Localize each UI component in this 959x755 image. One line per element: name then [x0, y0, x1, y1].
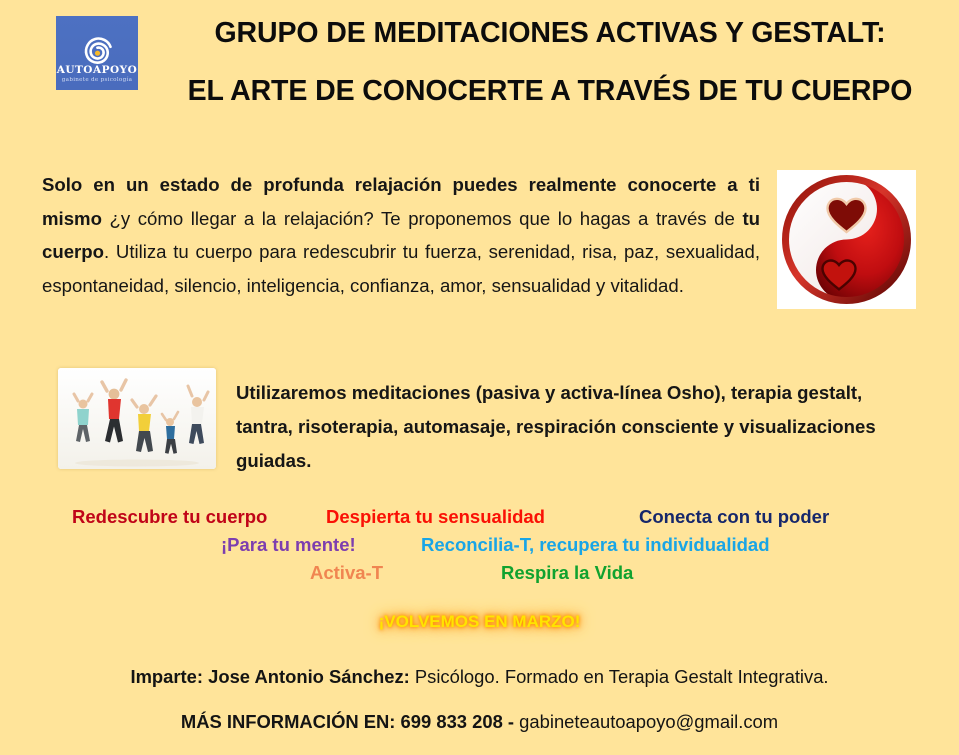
slogan-respira-la-vida: Respira la Vida [501, 559, 633, 587]
footer-instructor: Imparte: Jose Antonio Sánchez: Psicólogo… [0, 663, 959, 691]
methods-paragraph: Utilizaremos meditaciones (pasiva y acti… [236, 376, 904, 478]
slogan-para-tu-mente: ¡Para tu mente! [221, 531, 356, 559]
slogan-despierta-tu-sensualidad: Despierta tu sensualidad [326, 503, 545, 531]
slogan-activa-t: Activa-T [310, 559, 383, 587]
footer-instructor-rest: Psicólogo. Formado en Terapia Gestalt In… [410, 666, 829, 687]
jumping-people-photo [58, 368, 216, 469]
highlight-text: ¡VOLVEMOS EN MARZO! [379, 612, 581, 631]
slogans-group: Redescubre tu cuerpo Despierta tu sensua… [0, 503, 959, 587]
autoapoyo-logo: AUTOAPOYO gabinete de psicología [56, 16, 138, 90]
title-line-1: GRUPO DE MEDITACIONES ACTIVAS Y GESTALT: [150, 8, 950, 58]
photo-illustration [58, 368, 216, 469]
footer-contact: MÁS INFORMACIÓN EN: 699 833 208 - gabine… [0, 708, 959, 736]
slogan-redescubre-tu-cuerpo: Redescubre tu cuerpo [72, 503, 267, 531]
highlight-banner: ¡VOLVEMOS EN MARZO! [0, 612, 959, 632]
title-line-2: EL ARTE DE CONOCERTE A TRAVÉS DE TU CUER… [150, 66, 950, 116]
slogan-reconcilia-t: Reconcilia-T, recupera tu individualidad [421, 531, 770, 559]
logo-wordmark: AUTOAPOYO [56, 65, 138, 76]
yin-yang-icon [777, 170, 916, 309]
yin-yang-hearts-image [777, 170, 916, 309]
footer-contact-bold: MÁS INFORMACIÓN EN: 699 833 208 - [181, 711, 519, 732]
slogan-row-1: Redescubre tu cuerpo Despierta tu sensua… [0, 503, 959, 531]
footer-contact-email: gabineteautoapoyo@gmail.com [519, 711, 778, 732]
footer-instructor-bold: Imparte: Jose Antonio Sánchez: [130, 666, 409, 687]
intro-paragraph: Solo en un estado de profunda relajación… [42, 168, 760, 302]
poster-root: AUTOAPOYO gabinete de psicología GRUPO D… [0, 0, 959, 755]
slogan-row-3: Activa-T Respira la Vida [0, 559, 959, 587]
intro-text-1: ¿y cómo llegar a la relajación? Te propo… [102, 208, 743, 229]
intro-text-2: . Utiliza tu cuerpo para redescubrir tu … [42, 241, 760, 296]
poster-title: GRUPO DE MEDITACIONES ACTIVAS Y GESTALT:… [150, 8, 950, 116]
slogan-conecta-con-tu-poder: Conecta con tu poder [639, 503, 829, 531]
slogan-row-2: ¡Para tu mente! Reconcilia-T, recupera t… [0, 531, 959, 559]
poster-header: AUTOAPOYO gabinete de psicología GRUPO D… [0, 0, 959, 125]
logo-tagline: gabinete de psicología [56, 78, 138, 84]
